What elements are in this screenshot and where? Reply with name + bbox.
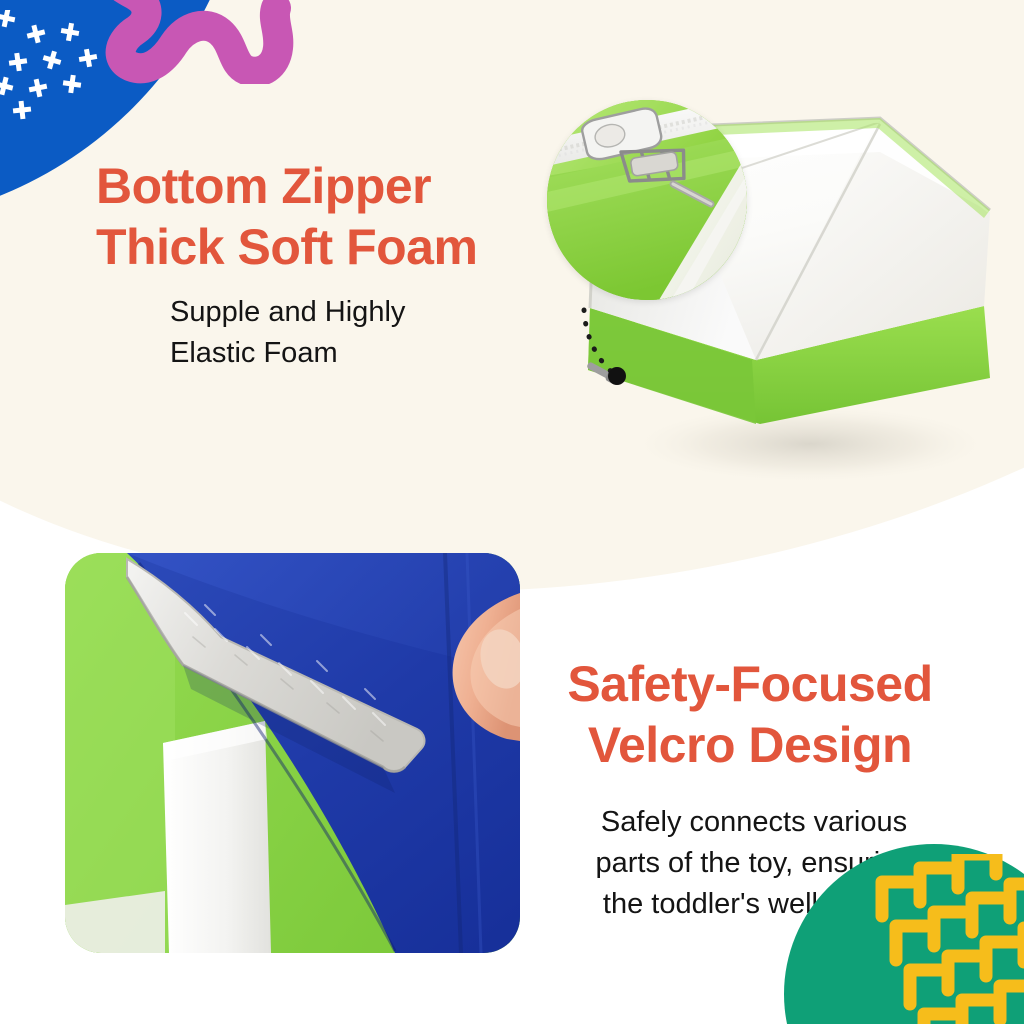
dotted-pointer-line (580, 250, 670, 400)
subtitle-zipper: Supple and Highly Elastic Foam (170, 292, 405, 374)
page-title-velcro: Safety-Focused Velcro Design (526, 654, 974, 776)
page-title-zipper: Bottom Zipper Thick Soft Foam (96, 156, 477, 278)
yellow-chevron-pattern (864, 854, 1024, 1024)
infographic-poster: Bottom Zipper Thick Soft Foam Supple and… (0, 0, 1024, 1024)
magenta-squiggle-shape (96, 0, 316, 84)
velcro-strip-photo (65, 553, 520, 953)
